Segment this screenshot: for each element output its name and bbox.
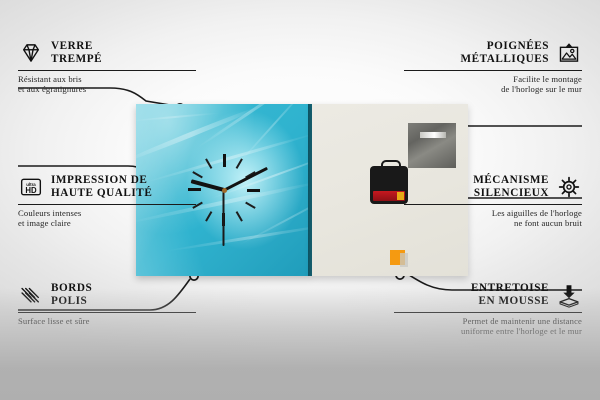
callout-divider: [18, 312, 196, 313]
callout-desc-line1: Surface lisse et sûre: [18, 316, 196, 327]
callout-title-line1: IMPRESSION DE: [51, 174, 152, 187]
svg-text:HD: HD: [25, 186, 37, 195]
callout-desc-line2: et image claire: [18, 218, 196, 229]
callout-desc-line1: Facilite le montage: [404, 74, 582, 85]
callout-divider: [18, 204, 196, 205]
callout-verre-trempe: VERRE TREMPÉ Résistant aux bris et aux é…: [18, 40, 196, 95]
callout-title-line1: VERRE: [51, 40, 102, 53]
callout-desc-line1: Permet de maintenir une distance: [394, 316, 582, 327]
callout-title-line1: ENTRETOISE: [471, 282, 549, 295]
callout-title-line2: SILENCIEUX: [473, 187, 549, 200]
callout-desc-line1: Couleurs intenses: [18, 208, 196, 219]
callout-impression-haute-qualite: ultra HD IMPRESSION DE HAUTE QUALITÉ Cou…: [18, 174, 196, 229]
callout-title-line2: MÉTALLIQUES: [460, 53, 549, 66]
metal-hanger-part: [408, 123, 456, 168]
callout-title-line2: POLIS: [51, 295, 92, 308]
gear-icon: [556, 174, 582, 200]
callout-entretoise-en-mousse: ENTRETOISE EN MOUSSE Permet de maintenir…: [394, 282, 582, 337]
callout-title-line1: BORDS: [51, 282, 92, 295]
callout-divider: [404, 204, 582, 205]
callout-divider: [18, 70, 196, 71]
callout-title-line2: TREMPÉ: [51, 53, 102, 66]
callout-desc-line2: ne font aucun bruit: [404, 218, 582, 229]
callout-title-line1: POIGNÉES: [460, 40, 549, 53]
callout-divider: [394, 312, 582, 313]
infographic-canvas: VERRE TREMPÉ Résistant aux bris et aux é…: [0, 0, 600, 400]
callout-desc-line2: et aux égratignures: [18, 84, 196, 95]
callout-title-line2: EN MOUSSE: [471, 295, 549, 308]
foam-spacer-icon: [556, 282, 582, 308]
polished-edges-icon: [18, 282, 44, 308]
callout-desc-line2: de l'horloge sur le mur: [404, 84, 582, 95]
clock-movement-part: [370, 166, 408, 204]
callout-mecanisme-silencieux: MÉCANISME SILENCIEUX Les aiguilles de l'…: [404, 174, 582, 229]
callout-title-line1: MÉCANISME: [473, 174, 549, 187]
battery-part: [373, 191, 405, 201]
ultra-hd-icon: ultra HD: [18, 174, 44, 200]
callout-desc-line1: Les aiguilles de l'horloge: [404, 208, 582, 219]
callout-title-line2: HAUTE QUALITÉ: [51, 187, 152, 200]
callout-desc-line2: uniforme entre l'horloge et le mur: [394, 326, 582, 337]
callout-divider: [404, 70, 582, 71]
diamond-icon: [18, 40, 44, 66]
callout-poignees-metalliques: POIGNÉES MÉTALLIQUES Facilite le montage…: [404, 40, 582, 95]
foam-spacer-part: [390, 250, 405, 265]
callout-bords-polis: BORDS POLIS Surface lisse et sûre: [18, 282, 196, 326]
picture-hanger-icon: [556, 40, 582, 66]
callout-desc-line1: Résistant aux bris: [18, 74, 196, 85]
clock-center-pin: [222, 188, 227, 193]
